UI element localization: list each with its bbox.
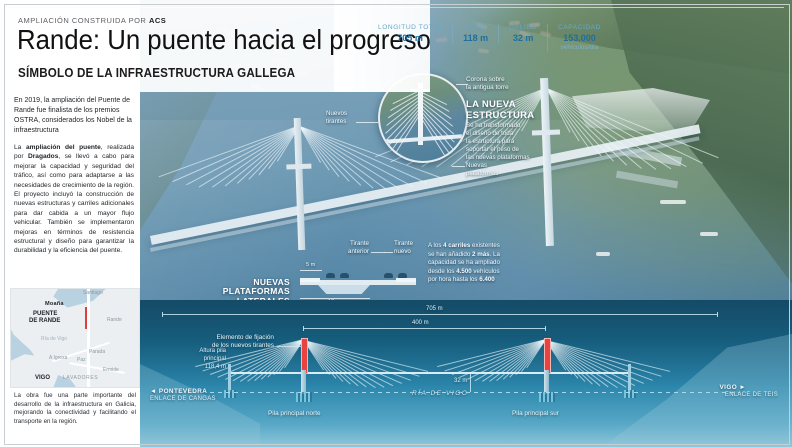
label-pier-height-1: Altura pila — [182, 348, 226, 354]
label-pier-north: Pila principal norte — [268, 410, 321, 417]
stat-3: GÁLIBO32 m — [498, 24, 547, 44]
blueprint-approach-pier-left — [228, 364, 231, 392]
location-map-inset: Santiago Moaña PUENTE DE RANDE Rande Ría… — [10, 288, 140, 388]
dim-label-galibo: 32 m — [454, 378, 467, 384]
callout-nuevos-tirantes: Nuevos tirantes — [326, 110, 347, 126]
callout-corona: Corona sobre la antigua torre — [466, 76, 509, 93]
body-bold-dragados: Dragados — [28, 153, 58, 160]
stat-label: GÁLIBO — [509, 24, 537, 33]
label-pier-height-2: principal — [182, 356, 226, 362]
cross-section-vehicle — [384, 273, 393, 278]
callout-nueva-estructura-text: Se ha transformado el diseño de toda la … — [466, 122, 530, 162]
map-bridge-marker — [85, 307, 87, 329]
map-label-santiago: Santiago — [83, 290, 103, 296]
boat-wake — [660, 200, 686, 204]
stat-2: ALTO118 m — [452, 24, 498, 44]
blueprint-pylon-north-shaft — [301, 370, 306, 394]
dim-label-5m: 5 m — [306, 262, 315, 268]
label-fixing-1: Elemento de fijación — [192, 334, 274, 341]
label-enlace-teis: ENLACE DE TEIS — [725, 392, 778, 398]
dim-line-main-span — [303, 328, 546, 329]
key-stats-row: LONGITUD TOTAL705 mALTO118 mGÁLIBO32 mCA… — [368, 24, 611, 52]
stat-value: 32 m — [509, 33, 537, 44]
dim-line-total-span — [162, 314, 718, 315]
stat-unit: vehículos/día — [558, 44, 601, 52]
map-label-ria-de-vigo: Ría de Vigo — [41, 336, 67, 342]
blueprint-pylon-south-fixing — [544, 338, 551, 374]
body-bold-ampliacion: ampliación del puente — [26, 144, 101, 151]
cross-section-vehicle — [326, 273, 335, 278]
map-label-a-igrexa: A Igrexa — [49, 355, 67, 361]
callout-carriles: A los 4 carriles existentes se han añadi… — [428, 242, 504, 285]
carriles-text: A los — [428, 242, 443, 249]
body-text: , se llevó a cabo para mejorar la capaci… — [14, 153, 134, 254]
map-label-lavadores: LAVADORES — [63, 375, 98, 381]
carriles-bold-2mas: 2 más — [472, 251, 490, 258]
leader-line-fixing — [277, 346, 301, 347]
label-pontevedra: ◄ PONTEVEDRA — [150, 388, 207, 395]
map-label-rande: Rande — [107, 317, 122, 323]
map-label-ermide: Ermide — [103, 367, 119, 373]
map-caption: La obra fue una parte importante del des… — [14, 392, 136, 426]
dim-label-total-span: 705 m — [426, 306, 443, 312]
stat-4: CAPACIDAD153.000vehículos/día — [547, 24, 611, 52]
dim-line-galibo — [470, 374, 471, 392]
callout-tirante-nuevo: Tirante nuevo — [394, 240, 413, 256]
stat-label: ALTO — [463, 24, 488, 33]
leader-line-tirante-nuevo — [384, 252, 393, 253]
dim-label-main-span: 400 m — [412, 320, 429, 326]
cross-section-box-girder — [318, 285, 370, 294]
article-body: En 2019, la ampliación del Puente de Ran… — [14, 96, 134, 263]
body-text: La — [14, 144, 26, 151]
blueprint-deck — [228, 372, 630, 374]
map-label-vigo: VIGO — [35, 375, 50, 381]
carriles-bold-6400: 6.400 — [479, 276, 494, 283]
label-pier-south: Pila principal sur — [512, 410, 559, 417]
blueprint-pier-north — [296, 392, 312, 402]
body-paragraph: La ampliación del puente, realizada por … — [14, 143, 134, 256]
map-label-puente: PUENTE — [33, 311, 57, 317]
map-highway-ap9 — [87, 289, 90, 387]
dim-line-5m — [300, 270, 322, 271]
stat-1: LONGITUD TOTAL705 m — [368, 24, 452, 44]
stat-label: LONGITUD TOTAL — [378, 24, 442, 33]
boat-wake — [596, 252, 610, 256]
leader-line-plataformas — [452, 166, 465, 167]
label-enlace-cangas: ENLACE DE CANGAS — [150, 396, 216, 402]
callout-tirante-anterior: Tirante anterior — [329, 240, 369, 256]
label-vigo: VIGO ► — [720, 384, 746, 391]
cross-section-platform-left — [300, 278, 320, 282]
leader-line-tirantes — [356, 122, 378, 123]
blueprint-pier-south — [539, 392, 555, 402]
boat-wake — [700, 232, 718, 236]
stat-value: 153.000 — [558, 33, 601, 44]
map-label-paz: Paz — [77, 357, 86, 363]
carriles-bold-4: 4 carriles — [443, 242, 470, 249]
infographic-page: AMPLIACIÓN CONSTRUIDA POR ACS Rande: Un … — [0, 0, 792, 447]
blueprint-pylon-north-fixing — [301, 338, 308, 374]
map-label-parada: Parada — [89, 349, 105, 355]
blueprint-elevation: 705 m 400 m Elemento de fijación de los … — [140, 300, 792, 447]
map-label-moana: Moaña — [45, 301, 64, 307]
lead-paragraph: En 2019, la ampliación del Puente de Ran… — [14, 96, 134, 136]
leader-line-corona — [456, 84, 468, 85]
map-label-de-rande: DE RANDE — [29, 318, 60, 324]
leader-line-tirante-anterior — [371, 252, 385, 253]
cross-section-platform-right — [396, 278, 416, 282]
carriles-bold-4500: 4.500 — [456, 268, 471, 275]
blueprint-approach-pier-right — [628, 364, 631, 392]
cross-section-vehicle — [398, 273, 407, 278]
label-pier-height-3: 118,4 m — [182, 364, 226, 370]
page-subtitle: SÍMBOLO DE LA INFRAESTRUCTURA GALLEGA — [18, 66, 295, 80]
blueprint-waterline — [210, 392, 740, 393]
blueprint-pylon-south-shaft — [544, 370, 549, 394]
label-ria-de-vigo: RÍA DE VIGO — [412, 390, 468, 397]
deck-cross-section-diagram: 5 m 12 m — [300, 258, 416, 306]
stat-value: 118 m — [463, 33, 488, 44]
stat-value: 705 m — [378, 33, 442, 44]
cross-section-vehicle — [340, 273, 349, 278]
callout-nuevas-plataformas: Nuevas plataformas — [466, 162, 498, 178]
callout-nueva-estructura-title: LA NUEVA ESTRUCTURA — [466, 100, 534, 121]
stat-label: CAPACIDAD — [558, 24, 601, 33]
